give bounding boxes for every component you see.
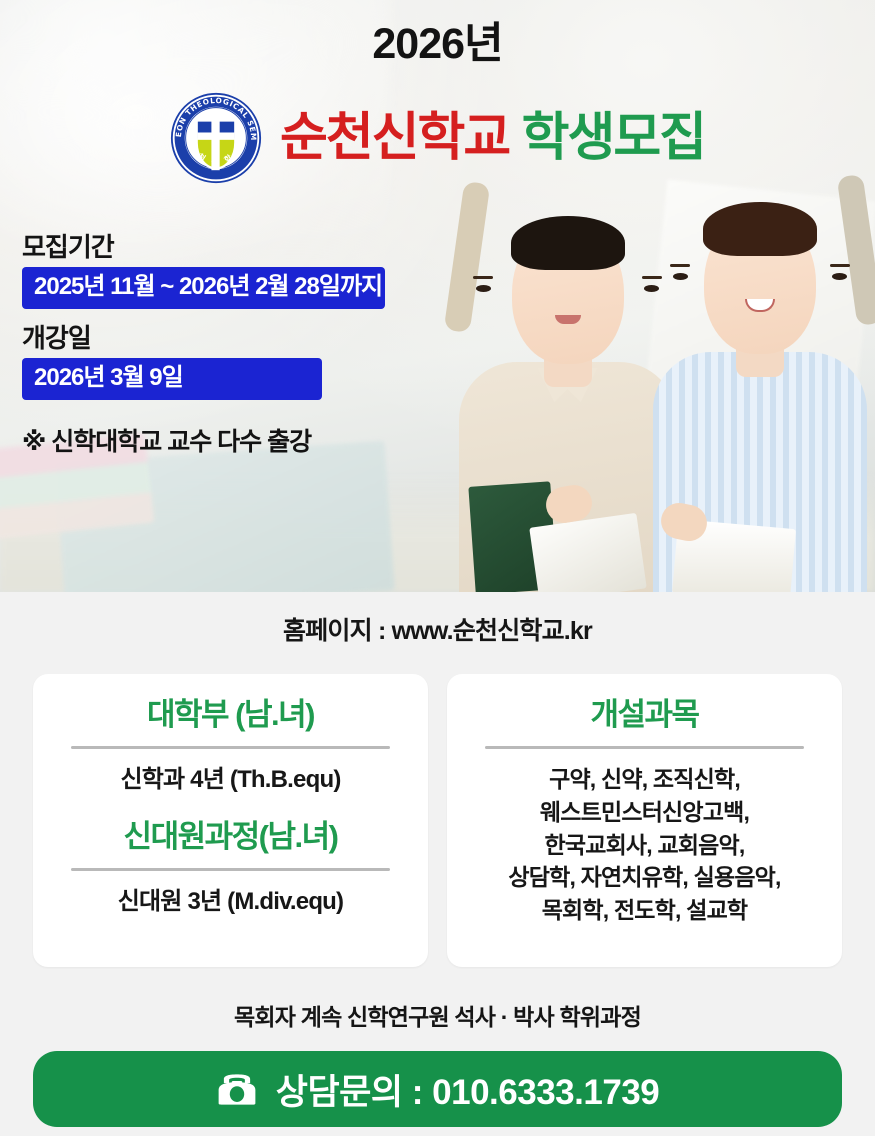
student-right-brow	[670, 264, 690, 267]
school-name: 순천신학교	[280, 109, 509, 167]
students-photo	[430, 175, 875, 592]
lower-section: 홈페이지 : www.순천신학교.kr 대학부 (남.녀) 신학과 4년 (Th…	[0, 592, 875, 1136]
divider	[485, 746, 804, 749]
course-line: 상담학, 자연치유학, 실용음악,	[463, 861, 826, 894]
recruitment-info-block: 모집기간 2025년 11월 ~ 2026년 2월 28일까지 개강일 2026…	[22, 232, 422, 458]
course-line: 목회학, 전도학, 설교학	[463, 894, 826, 927]
card-body-undergraduate: 신학과 4년 (Th.B.equ)	[49, 763, 412, 798]
poster-root: 2026년 SUNCHEON THEOLOGICAL SEMINARY	[0, 0, 875, 1136]
student-right-eye	[832, 273, 847, 280]
student-left-eye	[476, 285, 491, 292]
start-date-label: 개강일	[22, 323, 422, 354]
student-left-brow	[473, 276, 493, 279]
divider	[71, 746, 390, 749]
student-right-eye	[673, 273, 688, 280]
card-title-graduate: 신대원과정(남.녀)	[49, 818, 412, 855]
student-right	[645, 175, 875, 592]
student-right-fringe	[703, 202, 817, 256]
course-line: 웨스트민스터신앙고백,	[463, 796, 826, 829]
divider	[71, 868, 390, 871]
contact-cta-button[interactable]: 상담문의 : 010.6333.1739	[33, 1051, 842, 1127]
student-left-fringe	[511, 216, 625, 270]
homepage-line[interactable]: 홈페이지 : www.순천신학교.kr	[0, 592, 875, 647]
contact-cta-label: 상담문의 : 010.6333.1739	[276, 1064, 659, 1115]
period-label: 모집기간	[22, 232, 422, 263]
recruit-label: 학생모집	[522, 109, 705, 167]
poster-title-row: SUNCHEON THEOLOGICAL SEMINARY 순 천 신 학 교 …	[0, 92, 875, 184]
start-date-value-badge: 2026년 3월 9일	[22, 358, 322, 400]
seminary-logo-icon: SUNCHEON THEOLOGICAL SEMINARY 순 천 신 학 교	[170, 92, 262, 184]
telephone-icon	[216, 1073, 258, 1106]
research-institute-note: 목회자 계속 신학연구원 석사 · 박사 학위과정	[0, 998, 875, 1032]
course-list: 구약, 신약, 조직신학, 웨스트민스터신앙고백, 한국교회사, 교회음악, 상…	[463, 763, 826, 926]
student-left-bag-strap	[444, 181, 491, 333]
card-title-undergraduate: 대학부 (남.녀)	[49, 696, 412, 733]
white-book	[529, 513, 647, 592]
card-degree-programs: 대학부 (남.녀) 신학과 4년 (Th.B.equ) 신대원과정(남.녀) 신…	[33, 674, 428, 967]
spacer	[49, 798, 412, 818]
professor-note: ※ 신학대학교 교수 다수 출강	[22, 422, 422, 458]
student-right-bag-strap	[837, 174, 875, 326]
card-courses: 개설과목 구약, 신약, 조직신학, 웨스트민스터신앙고백, 한국교회사, 교회…	[447, 674, 842, 967]
period-value-badge: 2025년 11월 ~ 2026년 2월 28일까지	[22, 267, 385, 309]
spacer	[22, 309, 422, 323]
hero-photo-section: 2026년 SUNCHEON THEOLOGICAL SEMINARY	[0, 0, 875, 592]
course-line: 구약, 신약, 조직신학,	[463, 763, 826, 796]
program-cards: 대학부 (남.녀) 신학과 4년 (Th.B.equ) 신대원과정(남.녀) 신…	[0, 647, 875, 967]
course-line: 한국교회사, 교회음악,	[463, 829, 826, 862]
card-title-courses: 개설과목	[463, 696, 826, 733]
poster-year: 2026년	[0, 23, 875, 66]
poster-main-title: 순천신학교 학생모집	[280, 111, 705, 166]
card-body-graduate: 신대원 3년 (M.div.equ)	[49, 885, 412, 920]
student-right-brow	[830, 264, 850, 267]
